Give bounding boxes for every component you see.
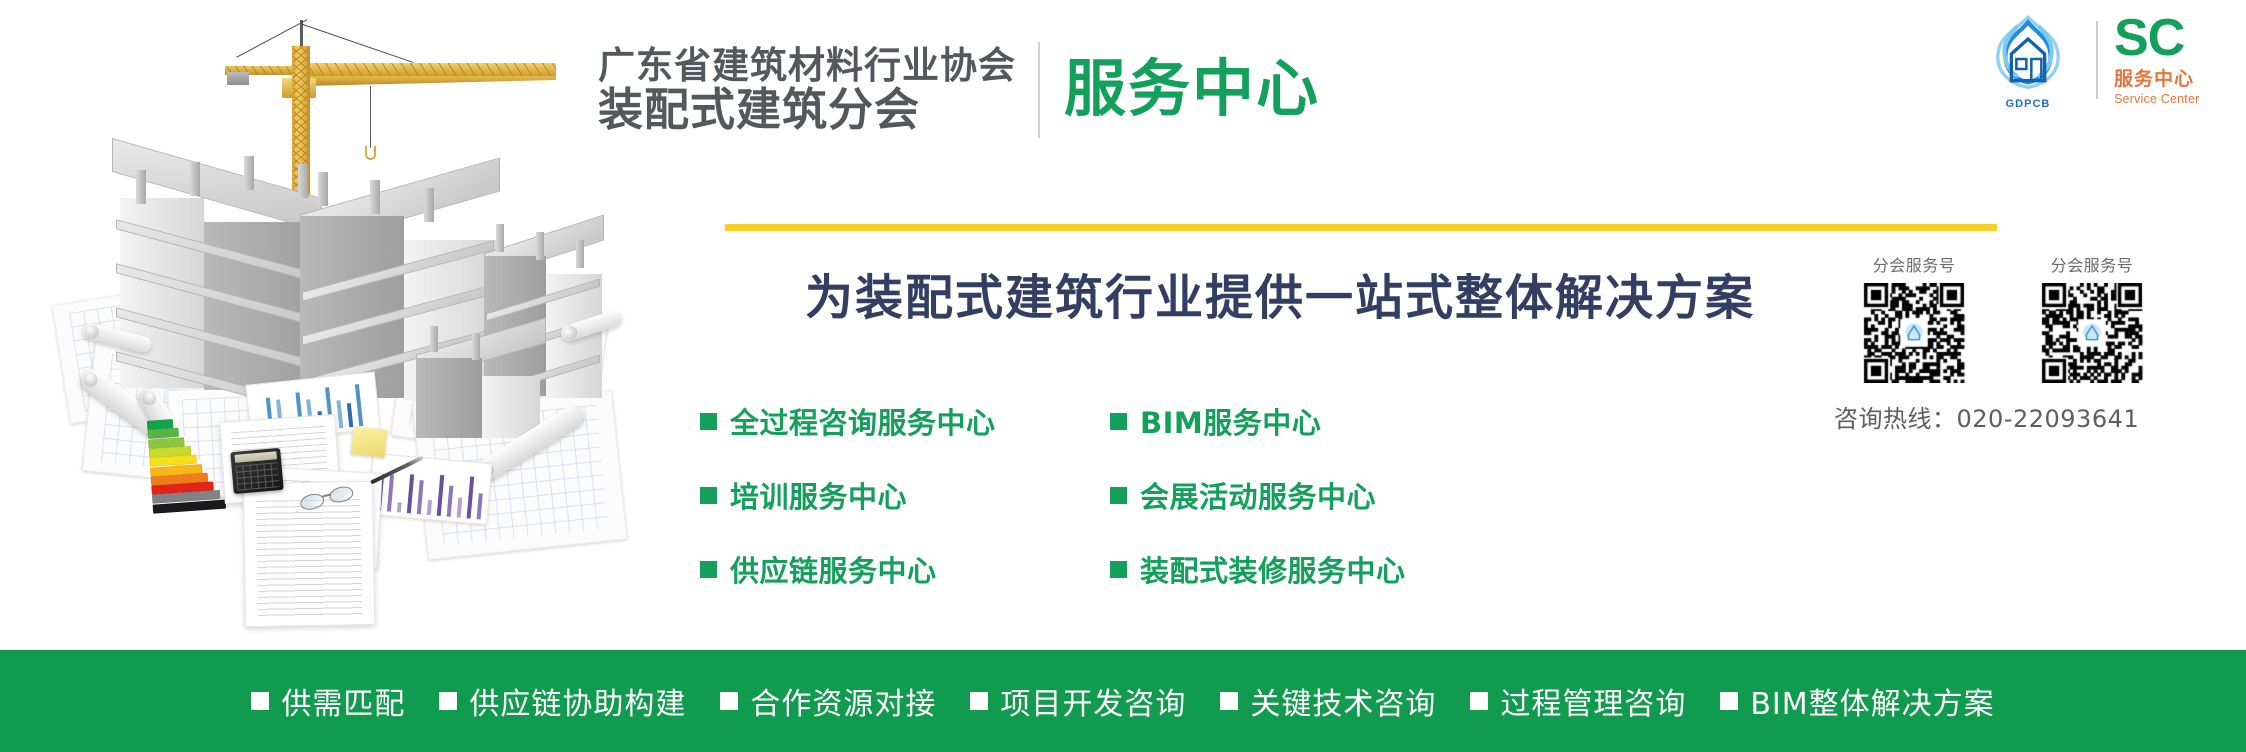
service-item-label: 会展活动服务中心 xyxy=(1140,474,1376,516)
qr-caption: 分会服务号 xyxy=(2016,252,2168,276)
yellow-divider xyxy=(725,224,1997,231)
calculator-icon xyxy=(230,448,283,494)
rebar-column xyxy=(370,180,380,214)
square-bullet-icon xyxy=(970,692,988,710)
sc-service-center-logo: SC 服务中心 Service Center xyxy=(2114,14,2234,106)
logo-cluster: GDPCB SC 服务中心 Service Center xyxy=(1976,8,2234,112)
qr-code-cluster: 分会服务号 分会服务号 咨询热线：020-22093641 xyxy=(1826,252,2236,434)
sc-chinese-label: 服务中心 xyxy=(2114,64,2234,91)
association-name-line2: 装配式建筑分会 xyxy=(598,87,1016,133)
tag-partner-resource-matching[interactable]: 合作资源对接 xyxy=(720,679,936,723)
service-item-bim[interactable]: BIM服务中心 xyxy=(1110,400,1800,442)
tag-label: BIM整体解决方案 xyxy=(1750,679,1994,723)
qr-code-block-1: 分会服务号 xyxy=(1838,252,1990,383)
crane-jib-lower xyxy=(306,76,556,86)
service-item-training[interactable]: 培训服务中心 xyxy=(700,474,1110,516)
crane-tie xyxy=(300,23,414,63)
chart-bar xyxy=(347,403,353,427)
rebar-column xyxy=(190,162,200,196)
bar-chart-printout xyxy=(368,453,493,525)
service-center-list: 全过程咨询服务中心 BIM服务中心 培训服务中心 会展活动服务中心 供应链服务中… xyxy=(700,400,1800,590)
rebar-column xyxy=(430,326,438,352)
sc-letters: SC xyxy=(2114,14,2234,63)
chart-bar xyxy=(477,493,483,519)
gdpcb-wordmark: GDPCB xyxy=(1976,98,2080,110)
building-model-left-wing xyxy=(112,168,322,398)
square-bullet-icon xyxy=(1220,692,1238,710)
chart-bar xyxy=(397,502,402,512)
service-item-prefab-decoration[interactable]: 装配式装修服务中心 xyxy=(1110,548,1800,590)
chart-bar xyxy=(467,477,475,519)
service-item-supply-chain[interactable]: 供应链服务中心 xyxy=(700,548,1110,590)
chart-bar xyxy=(336,400,343,428)
qr-code-row: 分会服务号 分会服务号 xyxy=(1826,252,2236,383)
hotline-text: 咨询热线：020-22093641 xyxy=(1826,399,2236,434)
crane-hoist-line xyxy=(370,86,371,148)
gdpcb-logo: GDPCB xyxy=(1976,12,2080,108)
chart-bar xyxy=(417,480,424,514)
tag-label: 供需匹配 xyxy=(281,679,405,723)
square-bullet-icon xyxy=(700,413,717,430)
square-bullet-icon xyxy=(700,561,717,578)
service-item-label: 供应链服务中心 xyxy=(730,548,937,590)
qr-code-block-2: 分会服务号 xyxy=(2016,252,2168,383)
content-area: GDPCB SC 服务中心 Service Center 广东省建筑材料行业协会… xyxy=(640,0,2246,650)
chart-bar xyxy=(457,497,463,518)
chart-bar xyxy=(437,475,445,516)
glasses-lens xyxy=(328,484,355,504)
rebar-column xyxy=(536,232,544,260)
crane-hook-icon xyxy=(365,146,376,160)
chart-bar xyxy=(355,384,363,426)
square-bullet-icon xyxy=(1470,692,1488,710)
crane-counterweight xyxy=(227,72,249,85)
service-item-label: 装配式装修服务中心 xyxy=(1140,548,1406,590)
square-bullet-icon xyxy=(251,692,269,710)
crane-jib xyxy=(306,63,556,76)
square-bullet-icon xyxy=(700,487,717,504)
calculator-screen xyxy=(235,451,278,463)
tag-label: 供应链协助构建 xyxy=(469,679,686,723)
calculator-keys xyxy=(235,462,279,491)
tag-bim-total-solution[interactable]: BIM整体解决方案 xyxy=(1720,679,1994,723)
square-bullet-icon xyxy=(1110,487,1127,504)
service-item-label: BIM服务中心 xyxy=(1140,400,1321,442)
title-block: 广东省建筑材料行业协会 装配式建筑分会 服务中心 xyxy=(598,42,1320,138)
chart-bar xyxy=(427,500,432,516)
building-wall xyxy=(416,358,482,438)
qr-canvas[interactable] xyxy=(2016,283,2168,383)
tag-label: 合作资源对接 xyxy=(750,679,936,723)
rebar-column xyxy=(496,224,504,252)
service-item-label: 培训服务中心 xyxy=(730,474,907,516)
tag-label: 过程管理咨询 xyxy=(1500,679,1686,723)
service-item-label: 全过程咨询服务中心 xyxy=(730,400,996,442)
service-center-title: 服务中心 xyxy=(1064,59,1320,121)
chart-bar xyxy=(447,486,454,517)
chart-bar xyxy=(407,474,414,513)
square-bullet-icon xyxy=(1110,413,1127,430)
rebar-column xyxy=(244,156,254,190)
square-bullet-icon xyxy=(439,692,457,710)
qr-caption: 分会服务号 xyxy=(1838,252,1990,276)
association-name-line1: 广东省建筑材料行业协会 xyxy=(598,47,1016,85)
title-separator xyxy=(1038,42,1040,138)
tag-key-technology-consulting[interactable]: 关键技术咨询 xyxy=(1220,679,1436,723)
tag-supply-demand-matching[interactable]: 供需匹配 xyxy=(251,679,405,723)
tag-process-management-consulting[interactable]: 过程管理咨询 xyxy=(1470,679,1686,723)
rebar-column xyxy=(318,172,328,206)
qr-canvas[interactable] xyxy=(1838,283,1990,383)
promo-banner: GDPCB SC 服务中心 Service Center 广东省建筑材料行业协会… xyxy=(0,0,2246,752)
building-model-podium xyxy=(416,336,546,446)
tag-project-development-consulting[interactable]: 项目开发咨询 xyxy=(970,679,1186,723)
qr-code-branch-service-account-2[interactable] xyxy=(2016,283,2168,383)
service-item-exhibition-events[interactable]: 会展活动服务中心 xyxy=(1110,474,1800,516)
sc-english-label: Service Center xyxy=(2114,92,2234,106)
gdpcb-house-flame-icon xyxy=(1986,14,2070,94)
chart-bar xyxy=(387,474,394,512)
tag-label: 关键技术咨询 xyxy=(1250,679,1436,723)
rebar-column xyxy=(136,170,146,204)
square-bullet-icon xyxy=(1110,561,1127,578)
sticky-note xyxy=(351,426,388,457)
bottom-tag-bar: 供需匹配 供应链协助构建 合作资源对接 项目开发咨询 关键技术咨询 过程管理咨询… xyxy=(0,650,2246,752)
square-bullet-icon xyxy=(720,692,738,710)
tag-label: 项目开发咨询 xyxy=(1000,679,1186,723)
service-item-all-process-consulting[interactable]: 全过程咨询服务中心 xyxy=(700,400,1110,442)
tag-supply-chain-build-assist[interactable]: 供应链协助构建 xyxy=(439,679,686,723)
square-bullet-icon xyxy=(1720,692,1738,710)
rebar-column xyxy=(424,188,434,222)
logo-divider xyxy=(2096,21,2098,99)
qr-code-branch-service-account-1[interactable] xyxy=(1838,283,1990,383)
rebar-column xyxy=(472,334,480,360)
association-name: 广东省建筑材料行业协会 装配式建筑分会 xyxy=(598,47,1016,134)
